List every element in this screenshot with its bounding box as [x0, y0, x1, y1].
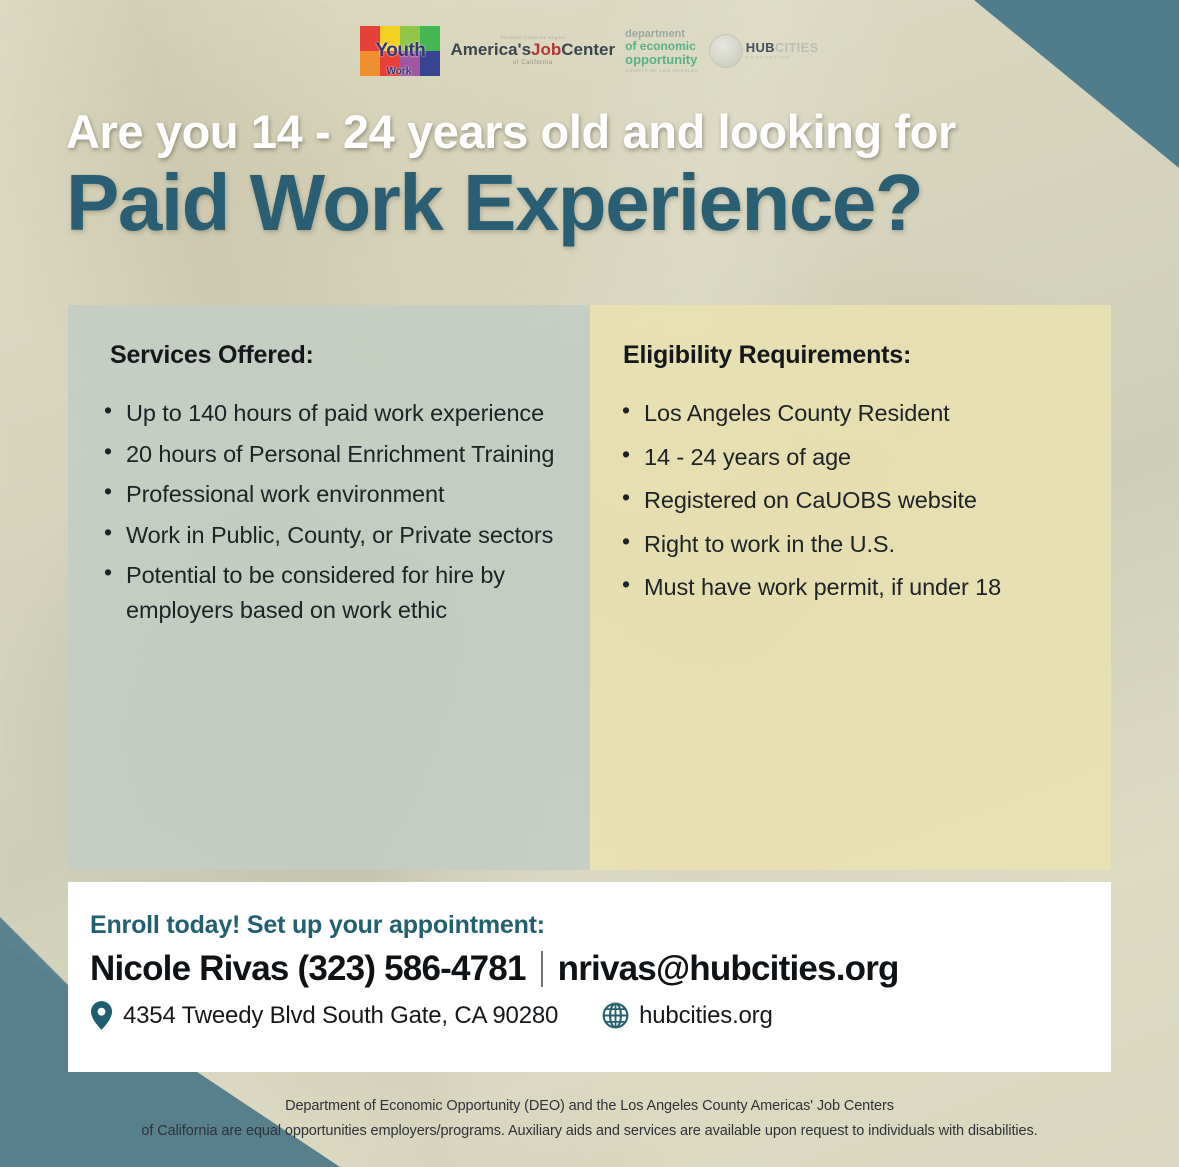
ajcc-americas: America's [450, 40, 531, 59]
contact-meta-row: 4354 Tweedy Blvd South Gate, CA 90280 hu… [90, 1001, 1111, 1030]
deo-line2: of economic [625, 40, 696, 53]
list-item: 20 hours of Personal Enrichment Training [92, 437, 560, 472]
list-item: 14 - 24 years of age [614, 440, 1081, 475]
youth-work-word-bottom: Work [386, 66, 411, 77]
hub-cities-seal-icon [709, 34, 743, 68]
ajcc-subtitle: of California [513, 60, 553, 66]
hub-cities-wordmark: HUBCITIES CONSORTIUM [746, 41, 819, 61]
eligibility-panel-title: Eligibility Requirements: [614, 341, 1081, 370]
list-item: Must have work permit, if under 18 [614, 570, 1081, 605]
list-item: Professional work environment [92, 477, 560, 512]
eligibility-panel: Eligibility Requirements: Los Angeles Co… [590, 305, 1111, 870]
services-panel: Services Offered: Up to 140 hours of pai… [68, 305, 590, 870]
list-item: Up to 140 hours of paid work experience [92, 396, 560, 431]
list-item: Work in Public, County, or Private secto… [92, 518, 560, 553]
headline-block: Are you 14 - 24 years old and looking fo… [66, 105, 1119, 245]
americas-job-center-logo: Southern California Region America'sJobC… [450, 36, 615, 67]
contact-name-phone[interactable]: Nicole Rivas (323) 586-4781 [90, 949, 526, 989]
headline-line-1: Are you 14 - 24 years old and looking fo… [66, 105, 1119, 159]
hub-word-a: HUB [746, 40, 775, 55]
ajcc-wordmark: America'sJobCenter [450, 41, 615, 58]
contact-email[interactable]: nrivas@hubcities.org [558, 949, 899, 989]
services-panel-title: Services Offered: [92, 341, 560, 370]
youth-work-logo: Youth Work [360, 26, 440, 76]
hub-cities-sub: CONSORTIUM [746, 56, 819, 61]
list-item: Registered on CaUOBS website [614, 483, 1081, 518]
hub-cities-logo: HUBCITIES CONSORTIUM [709, 34, 819, 68]
contact-name-phone-email-row: Nicole Rivas (323) 586-4781 nrivas@hubci… [90, 949, 1111, 989]
enroll-call-to-action: Enroll today! Set up your appointment: [90, 911, 1111, 940]
headline-line-2: Paid Work Experience? [66, 161, 1119, 245]
globe-icon [602, 1002, 629, 1029]
contact-website[interactable]: hubcities.org [639, 1002, 772, 1030]
deo-line3: opportunity [625, 53, 697, 67]
list-item: Potential to be considered for hire by e… [92, 558, 560, 627]
partner-logo-row: Youth Work Southern California Region Am… [0, 26, 1179, 76]
map-pin-icon [90, 1001, 113, 1030]
department-economic-opportunity-logo: department of economic opportunity COUNT… [625, 29, 699, 74]
disclaimer-line-2: of California are equal opportunities em… [60, 1119, 1119, 1144]
contact-divider [541, 951, 543, 987]
hub-word-b: CITIES [775, 40, 819, 55]
hub-cities-words: HUBCITIES [746, 41, 819, 54]
info-panels: Services Offered: Up to 140 hours of pai… [68, 305, 1111, 870]
ajcc-job: Job [531, 40, 561, 59]
contact-address: 4354 Tweedy Blvd South Gate, CA 90280 [123, 1002, 558, 1030]
eligibility-list: Los Angeles County Resident 14 - 24 year… [614, 396, 1081, 605]
contact-card: Enroll today! Set up your appointment: N… [68, 882, 1111, 1072]
list-item: Right to work in the U.S. [614, 527, 1081, 562]
list-item: Los Angeles County Resident [614, 396, 1081, 431]
legal-disclaimer: Department of Economic Opportunity (DEO)… [0, 1094, 1179, 1143]
services-list: Up to 140 hours of paid work experience … [92, 396, 560, 627]
ajcc-center: Center [561, 40, 615, 59]
disclaimer-line-1: Department of Economic Opportunity (DEO)… [285, 1098, 894, 1114]
deo-line4: COUNTY OF LOS ANGELES [625, 69, 699, 74]
